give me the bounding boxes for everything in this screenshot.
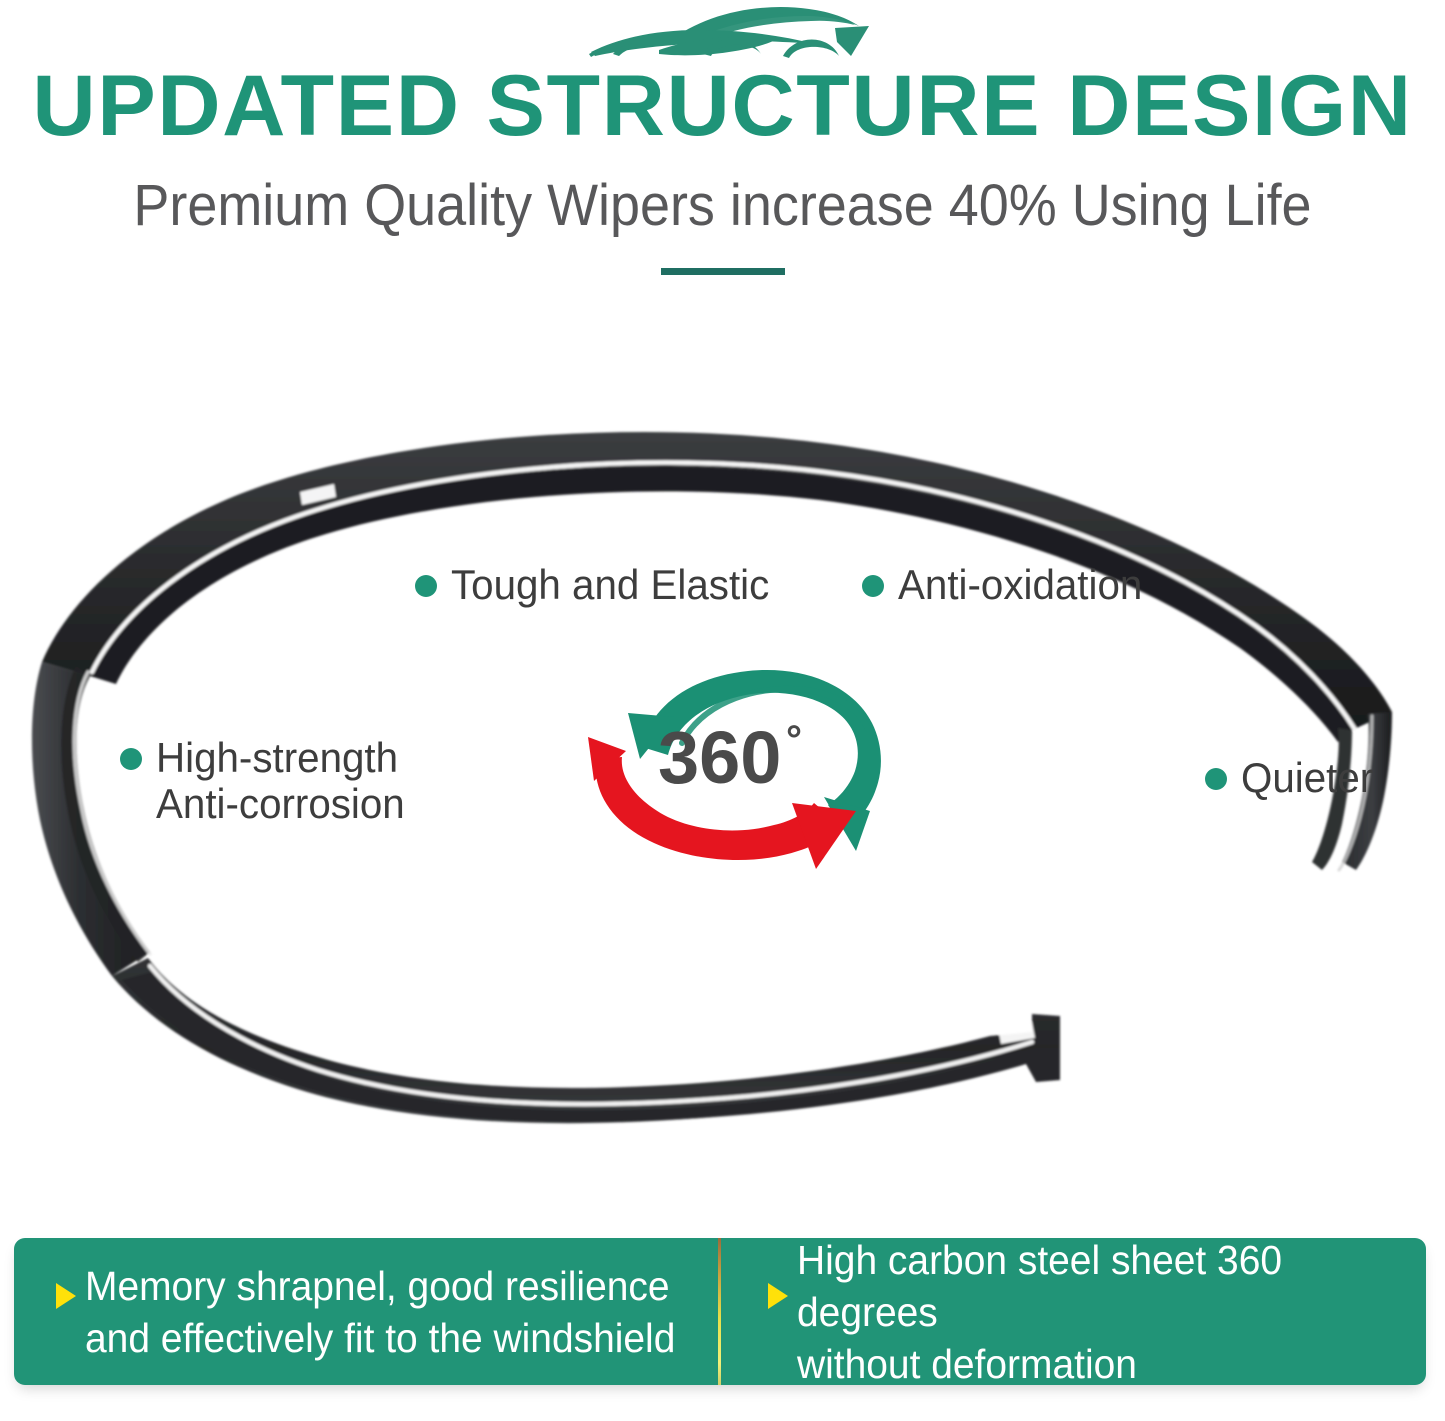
feature-callout-anti-oxidation: Anti-oxidation <box>862 562 1152 608</box>
bullet-dot-icon <box>1205 768 1227 790</box>
brand-logo <box>0 4 1445 66</box>
badge-degree-symbol: ° <box>786 718 802 762</box>
product-infographic: UPDATED STRUCTURE DESIGN Premium Quality… <box>0 0 1445 1421</box>
badge-360-degree: 360 ° <box>570 655 920 880</box>
bullet-dot-icon <box>415 575 437 597</box>
triangle-bullet-icon <box>56 1283 76 1309</box>
feature-callout-quieter: Quieter <box>1205 755 1379 801</box>
car-silhouette-icon <box>573 4 873 66</box>
badge-360-value: 360 <box>658 716 781 799</box>
feature-label: Anti-oxidation <box>898 562 1142 608</box>
feature-label: Tough and Elastic <box>451 562 769 608</box>
banner-item-text: Memory shrapnel, good resilience and eff… <box>85 1260 675 1364</box>
page-subtitle: Premium Quality Wipers increase 40% Usin… <box>51 175 1395 237</box>
banner-item-text: High carbon steel sheet 360 degrees with… <box>797 1238 1395 1385</box>
feature-callout-tough-and-elastic: Tough and Elastic <box>415 562 783 608</box>
feature-label: Quieter <box>1241 755 1373 801</box>
bottom-feature-banner: Memory shrapnel, good resilience and eff… <box>14 1238 1426 1385</box>
banner-item-high-carbon-steel: High carbon steel sheet 360 degrees with… <box>718 1238 1426 1385</box>
bullet-dot-icon <box>862 575 884 597</box>
page-title: UPDATED STRUCTURE DESIGN <box>0 60 1445 152</box>
bullet-dot-icon <box>120 748 142 770</box>
title-underline <box>661 268 785 275</box>
feature-callout-high-strength-anti-corrosion: High-strength Anti-corrosion <box>120 735 415 827</box>
banner-item-memory-shrapnel: Memory shrapnel, good resilience and eff… <box>14 1238 718 1385</box>
feature-label: High-strength Anti-corrosion <box>156 735 405 827</box>
rotation-arrows-icon: 360 ° <box>570 655 920 880</box>
triangle-bullet-icon <box>768 1283 788 1309</box>
